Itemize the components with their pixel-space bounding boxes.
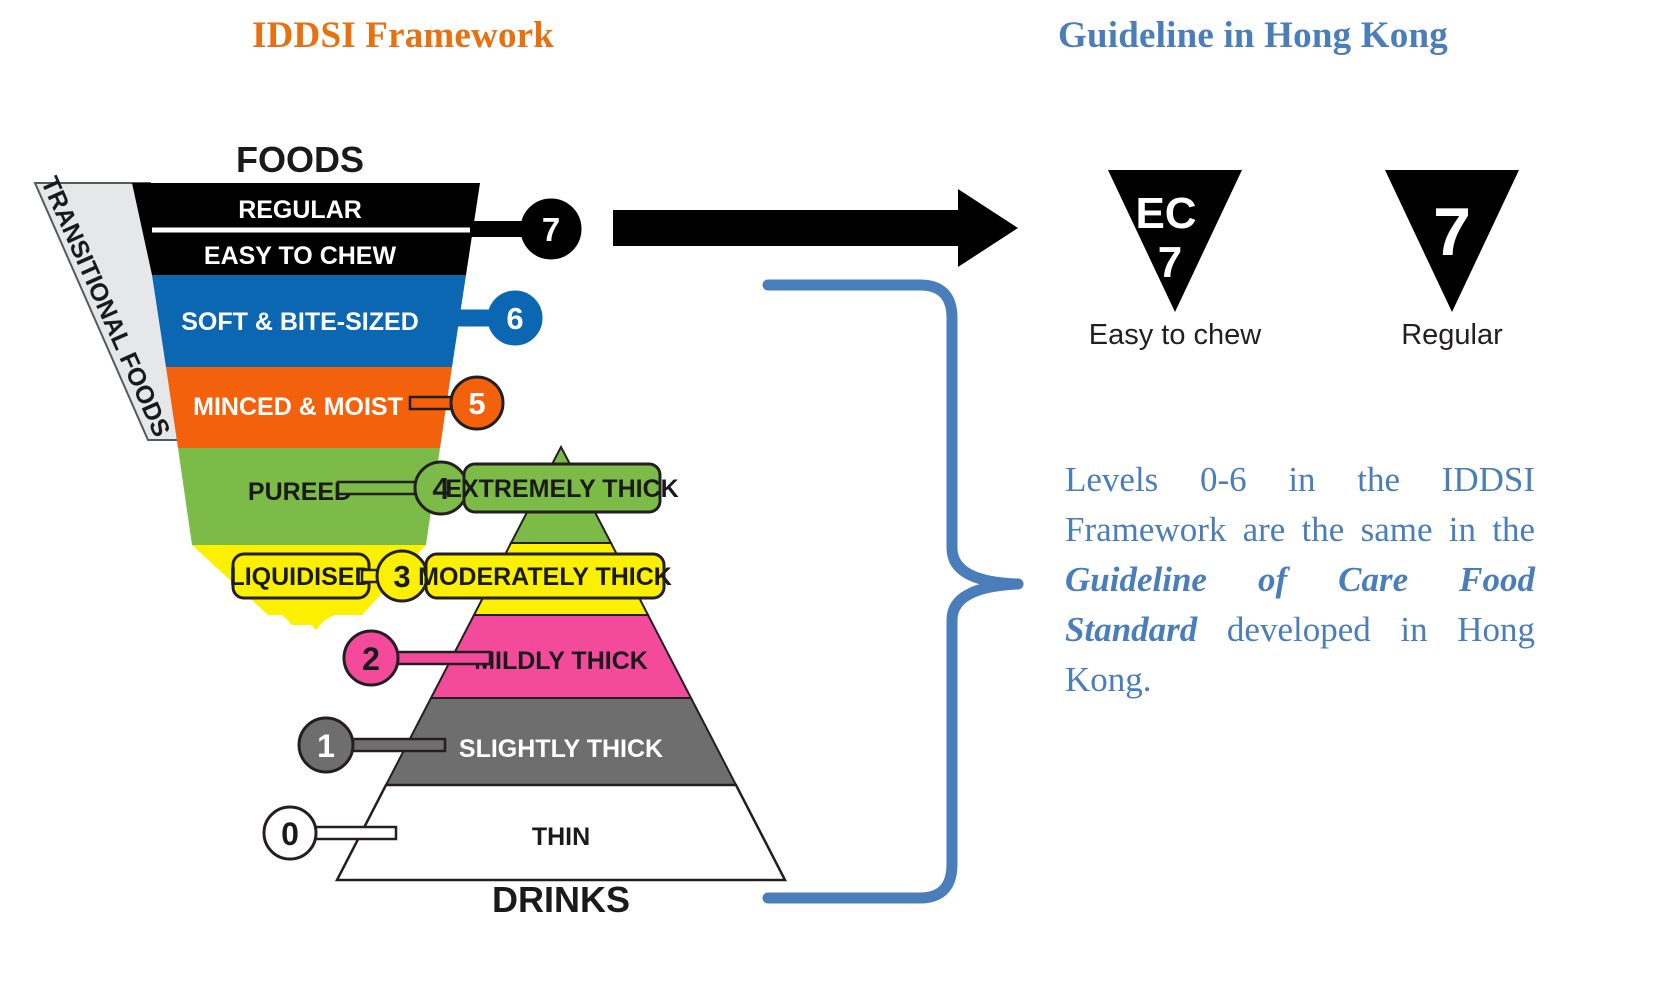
- drink-pill-moderately-thick[interactable]: MODERATELY THICK: [418, 554, 672, 598]
- hk-icon-caption-easy-to-chew: Easy to chew: [1089, 319, 1263, 351]
- drink-label-thin: THIN: [532, 823, 590, 851]
- level-badge-3-number: 3: [393, 559, 410, 594]
- drink-label-mildly-thick: MILDLY THICK: [474, 647, 648, 675]
- drinks-footer: DRINKS: [492, 879, 630, 920]
- level-badge-2-number: 2: [362, 641, 380, 677]
- food-label-easy-to-chew: EASY TO CHEW: [204, 242, 397, 270]
- drink-pill-extremely-thick[interactable]: EXTREMELY THICK: [445, 464, 678, 512]
- drink-label-extremely-thick: EXTREMELY THICK: [445, 475, 678, 503]
- arrow-foods-to-hk: [613, 189, 1018, 267]
- food-pill-liquidised[interactable]: LIQUIDISED: [229, 554, 372, 598]
- food-label-liquidised: LIQUIDISED: [229, 563, 372, 591]
- level-badge-7[interactable]: 7: [470, 200, 580, 258]
- level-badge-7-number: 7: [542, 211, 560, 248]
- diagram-canvas: IDDSI Framework Guideline in Hong Kong T…: [0, 0, 1664, 999]
- food-label-soft-bite-sized: SOFT & BITE-SIZED: [181, 308, 419, 336]
- note-text: Levels 0-6 in the IDDSI Framework are th…: [1065, 460, 1535, 549]
- foods-header: FOODS: [236, 139, 364, 180]
- drink-label-slightly-thick: SLIGHTLY THICK: [459, 735, 663, 763]
- drink-label-moderately-thick: MODERATELY THICK: [418, 563, 672, 591]
- food-label-regular: REGULAR: [238, 196, 362, 224]
- hk-icon-regular: 7 Regular: [1385, 170, 1519, 351]
- level-badge-6-number: 6: [506, 301, 523, 336]
- level-badge-6[interactable]: 6: [452, 292, 541, 344]
- brace-levels-0-6: [768, 285, 1018, 898]
- level-badge-0-number: 0: [281, 816, 299, 852]
- hk-icon-caption-regular: Regular: [1401, 319, 1503, 351]
- hk-icon-easy-to-chew: EC 7 Easy to chew: [1089, 170, 1263, 351]
- hk-icon-number-regular: 7: [1433, 194, 1471, 270]
- food-label-pureed: PUREED: [248, 478, 352, 506]
- level-badge-5-number: 5: [468, 386, 485, 421]
- hk-icon-number-ec7: 7: [1158, 238, 1182, 287]
- hk-icon-mark-ec: EC: [1135, 189, 1196, 238]
- level-badge-1-number: 1: [317, 728, 335, 764]
- hk-guideline-note: Levels 0-6 in the IDDSI Framework are th…: [1065, 455, 1535, 705]
- food-label-minced-moist: MINCED & MOIST: [193, 393, 403, 421]
